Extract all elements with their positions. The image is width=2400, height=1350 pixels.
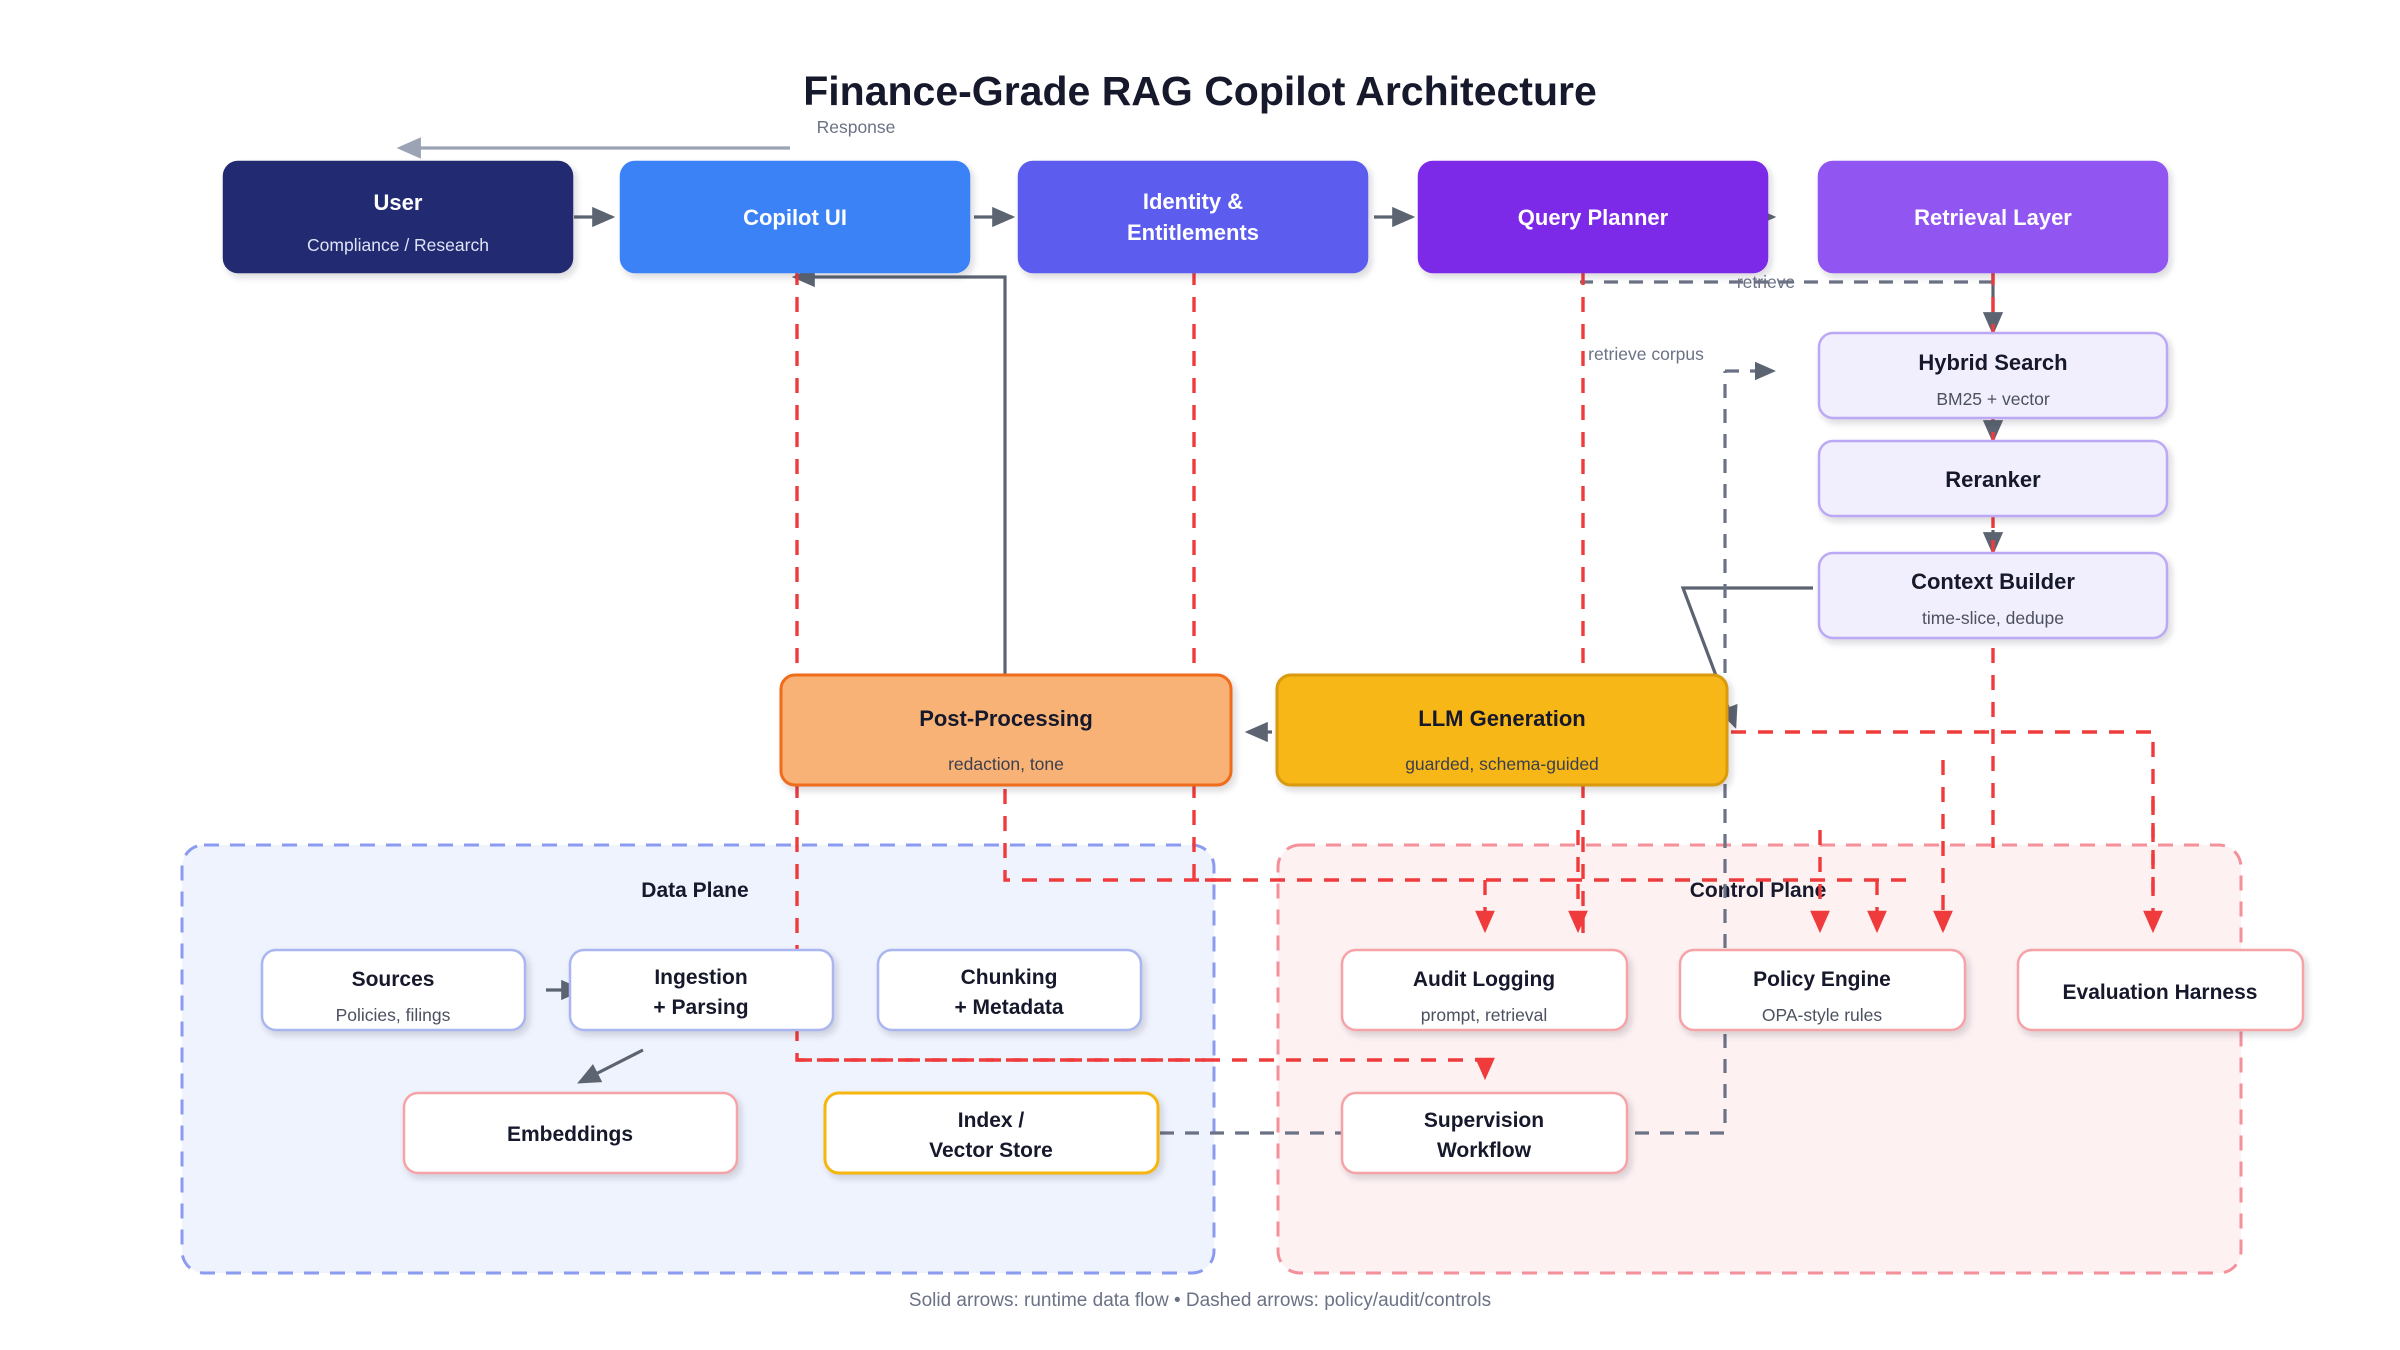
edge-label-response: Response <box>817 117 896 137</box>
node-audit-logging-title: Audit Logging <box>1413 968 1555 991</box>
node-reranker-title: Reranker <box>1945 467 2041 492</box>
node-index-vector-store[interactable]: Index / Vector Store <box>825 1093 1158 1173</box>
node-user-subtitle: Compliance / Research <box>307 235 489 255</box>
node-audit-logging[interactable]: Audit Logging prompt, retrieval <box>1342 950 1627 1030</box>
edge-label-retrieve: retrieve <box>1737 272 1795 292</box>
node-embeddings[interactable]: Embeddings <box>404 1093 737 1173</box>
node-copilot-ui-title: Copilot UI <box>743 205 847 230</box>
footer-legend: Solid arrows: runtime data flow • Dashed… <box>909 1290 1491 1311</box>
node-llm-generation-title: LLM Generation <box>1418 706 1585 731</box>
node-supervision-workflow[interactable]: Supervision Workflow <box>1342 1093 1627 1173</box>
node-ingestion-title-line2: + Parsing <box>653 996 748 1019</box>
node-post-processing-subtitle: redaction, tone <box>948 754 1064 774</box>
node-policy-engine[interactable]: Policy Engine OPA-style rules <box>1680 950 1965 1030</box>
node-sources-title: Sources <box>352 968 435 991</box>
node-context-builder-title: Context Builder <box>1911 569 2075 594</box>
node-post-processing[interactable]: Post-Processing redaction, tone <box>781 675 1231 785</box>
node-reranker[interactable]: Reranker <box>1819 441 2167 516</box>
node-supervision-title-line1: Supervision <box>1424 1109 1544 1132</box>
node-retrieval-layer[interactable]: Retrieval Layer <box>1819 162 2167 272</box>
node-hybrid-search[interactable]: Hybrid Search BM25 + vector <box>1819 333 2167 418</box>
node-index-title-line2: Vector Store <box>929 1139 1053 1162</box>
node-sources[interactable]: Sources Policies, filings <box>262 950 525 1030</box>
node-llm-generation-subtitle: guarded, schema-guided <box>1405 754 1599 774</box>
node-context-builder[interactable]: Context Builder time-slice, dedupe <box>1819 553 2167 638</box>
node-evaluation-harness-title: Evaluation Harness <box>2063 981 2258 1004</box>
node-llm-generation[interactable]: LLM Generation guarded, schema-guided <box>1277 675 1727 785</box>
edge-identity-policy-channel <box>1194 270 1216 880</box>
node-ingestion-parsing[interactable]: Ingestion + Parsing <box>570 950 833 1030</box>
node-identity-entitlements[interactable]: Identity & Entitlements <box>1019 162 1367 272</box>
node-index-title-line1: Index / <box>958 1109 1025 1132</box>
diagram-canvas: Finance-Grade RAG Copilot Architecture D… <box>0 0 2400 1350</box>
node-policy-engine-title: Policy Engine <box>1753 968 1891 991</box>
node-query-planner[interactable]: Query Planner <box>1419 162 1767 272</box>
node-copilot-ui[interactable]: Copilot UI <box>621 162 969 272</box>
node-audit-logging-subtitle: prompt, retrieval <box>1421 1005 1547 1025</box>
node-identity-title-line1: Identity & <box>1143 189 1243 214</box>
node-post-processing-title: Post-Processing <box>919 706 1093 731</box>
node-chunking-title-line2: + Metadata <box>954 996 1063 1019</box>
node-identity-title-line2: Entitlements <box>1127 220 1259 245</box>
node-chunking-title-line1: Chunking <box>961 966 1058 989</box>
node-hybrid-search-subtitle: BM25 + vector <box>1936 389 2049 409</box>
node-context-builder-subtitle: time-slice, dedupe <box>1922 608 2064 628</box>
node-sources-subtitle: Policies, filings <box>336 1005 451 1025</box>
cluster-label-data-plane: Data Plane <box>641 879 748 902</box>
cluster-label-control-plane: Control Plane <box>1690 879 1827 902</box>
node-evaluation-harness[interactable]: Evaluation Harness <box>2018 950 2303 1030</box>
node-supervision-title-line2: Workflow <box>1437 1139 1532 1162</box>
page-title: Finance-Grade RAG Copilot Architecture <box>803 68 1597 114</box>
node-chunking-metadata[interactable]: Chunking + Metadata <box>878 950 1141 1030</box>
node-policy-engine-subtitle: OPA-style rules <box>1762 1005 1883 1025</box>
node-retrieval-layer-title: Retrieval Layer <box>1914 205 2072 230</box>
edge-post-to-copilot <box>795 277 1005 702</box>
node-embeddings-title: Embeddings <box>507 1123 633 1146</box>
cluster-data-plane: Data Plane <box>182 845 1214 1273</box>
node-user[interactable]: User Compliance / Research <box>224 162 572 272</box>
node-ingestion-title-line1: Ingestion <box>654 966 747 989</box>
edge-label-retrieve-corpus: retrieve corpus <box>1588 344 1704 364</box>
node-query-planner-title: Query Planner <box>1518 205 1669 230</box>
node-hybrid-search-title: Hybrid Search <box>1918 350 2067 375</box>
node-user-title: User <box>374 190 423 215</box>
